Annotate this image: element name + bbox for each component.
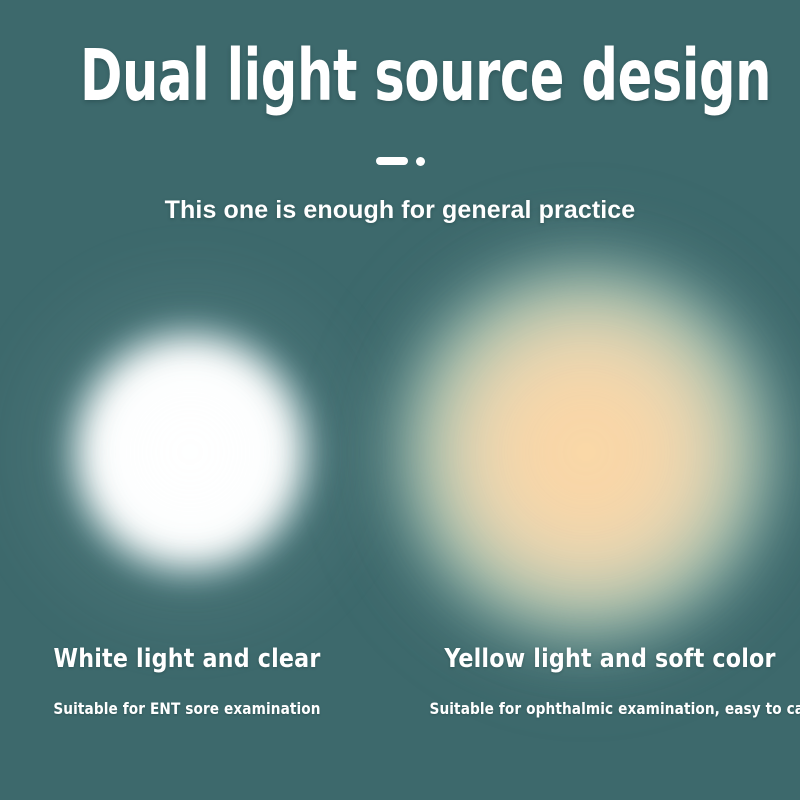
yellow-light-headline: Yellow light and soft color <box>430 644 791 674</box>
page-title: Dual light source design <box>80 40 720 112</box>
divider-bar-icon <box>376 157 408 165</box>
divider-dot-icon <box>416 157 425 166</box>
divider <box>0 152 800 170</box>
yellow-light-caption: Yellow light and soft color Suitable for… <box>420 644 800 719</box>
white-light-glow-icon <box>190 452 191 453</box>
product-feature-poster: Dual light source design This one is eno… <box>0 0 800 800</box>
white-light-caption: White light and clear Suitable for ENT s… <box>22 644 352 719</box>
white-light-headline: White light and clear <box>30 644 344 674</box>
yellow-light-glow-icon <box>586 452 587 453</box>
white-light-description: Suitable for ENT sore examination <box>30 699 344 719</box>
page-subtitle: This one is enough for general practice <box>0 194 800 226</box>
yellow-light-description: Suitable for ophthalmic examination, eas… <box>430 699 791 719</box>
